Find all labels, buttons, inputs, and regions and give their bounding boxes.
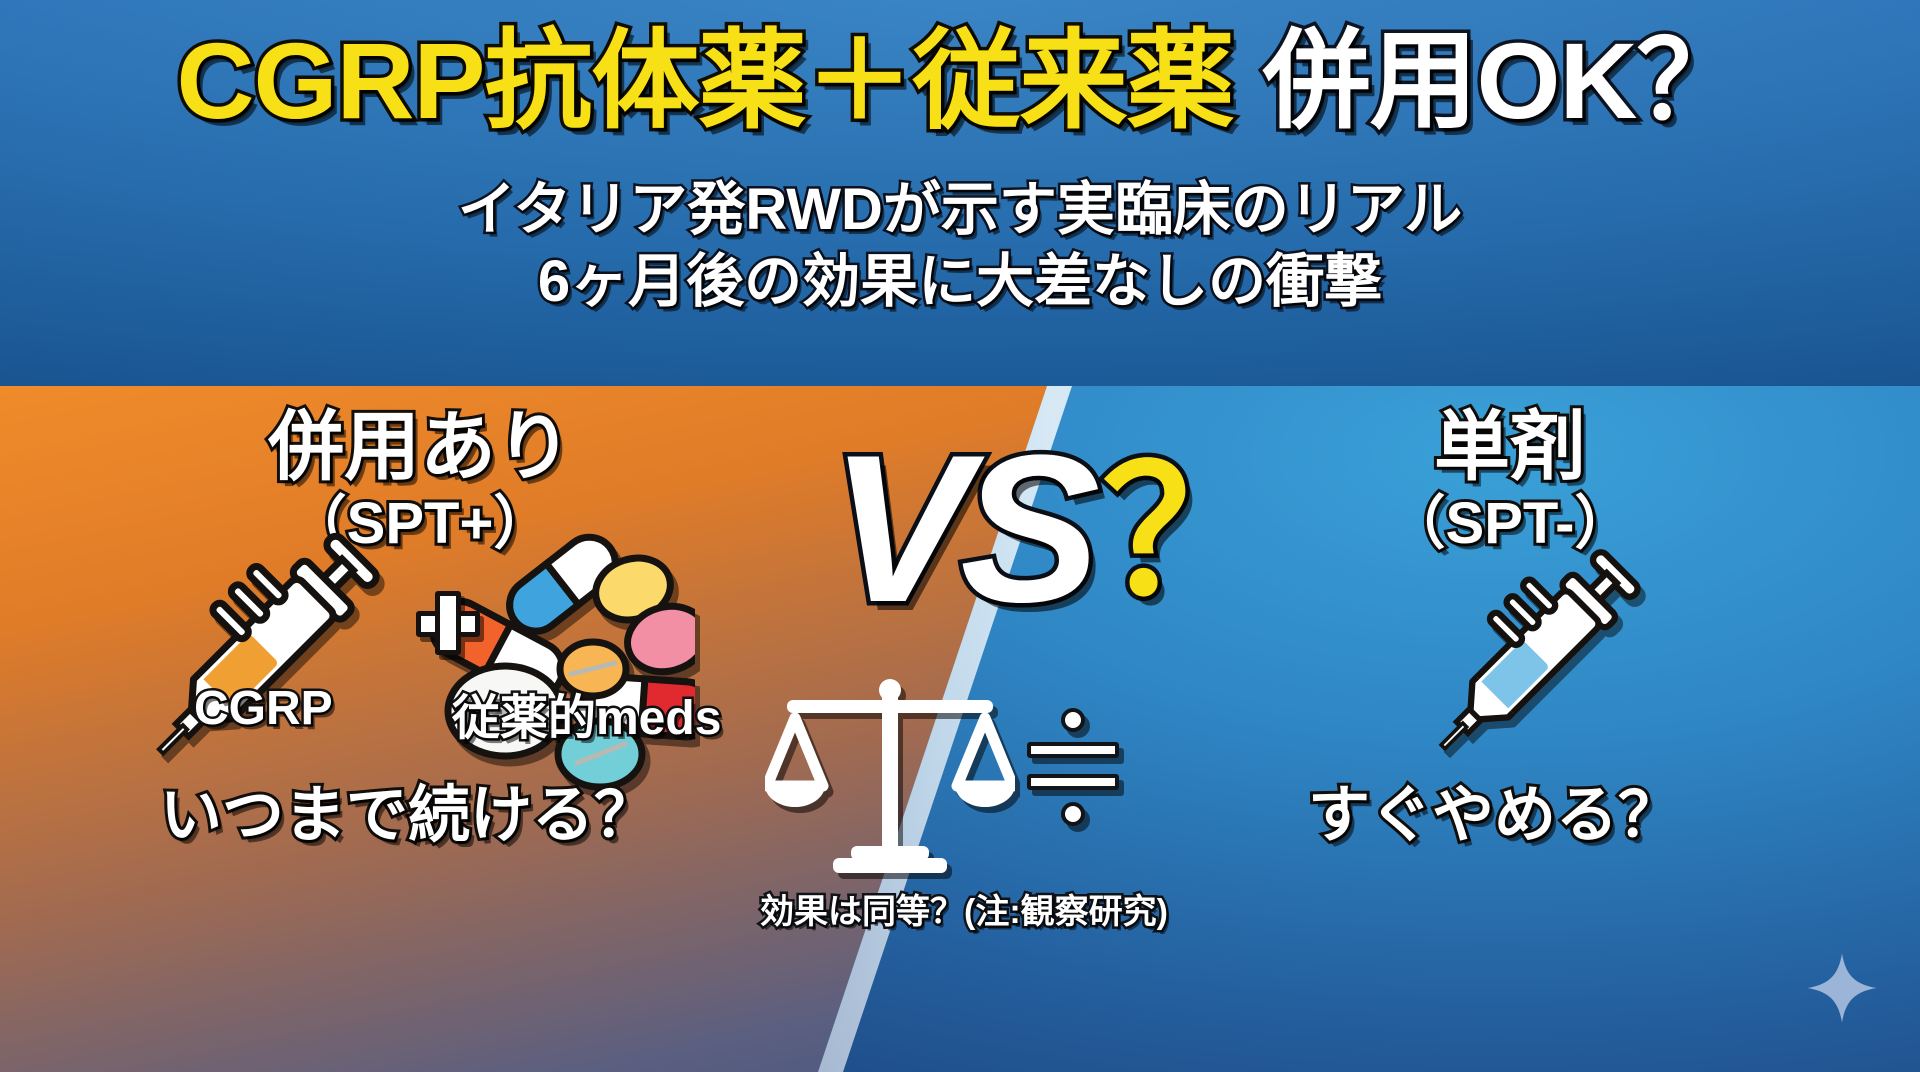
- plus-icon: [416, 591, 480, 655]
- comparison-panels: 併用あり （SPT+）: [0, 386, 1920, 1072]
- page-title-highlight: CGRP抗体薬＋従来薬: [176, 20, 1233, 141]
- infographic-canvas: CGRP抗体薬＋従来薬 併用OK？ イタリア発RWDが示す実臨床のリアル 6ヶ月…: [0, 0, 1920, 1072]
- left-panel-question: いつまで続ける？: [160, 764, 656, 854]
- left-meds-label: 従薬的meds: [452, 678, 721, 748]
- versus-block: VS ？: [830, 424, 1210, 654]
- syringe-blue-icon: [1415, 521, 1650, 791]
- syringe-orange-icon: [130, 506, 390, 796]
- question-mark-label: ？: [1102, 446, 1277, 621]
- header-band: CGRP抗体薬＋従来薬 併用OK？ イタリア発RWDが示す実臨床のリアル 6ヶ月…: [0, 0, 1920, 386]
- left-heading-main: 併用あり: [120, 408, 720, 488]
- right-heading-main: 単剤: [1230, 408, 1790, 488]
- vs-label: VS: [830, 424, 1090, 634]
- right-panel-question: すぐやめる？: [1308, 764, 1680, 854]
- page-title-rest: 併用OK？: [1234, 20, 1744, 141]
- sparkle-icon: [1806, 952, 1878, 1024]
- balance-scales-icon: [765, 678, 1015, 878]
- page-title: CGRP抗体薬＋従来薬 併用OK？: [0, 26, 1920, 136]
- subtitle-line-2: 6ヶ月後の効果に大差なしの衝撃: [0, 234, 1920, 318]
- left-drug-label: CGRP: [194, 681, 333, 736]
- approximately-equal-icon: [1025, 706, 1121, 826]
- center-caption: 効果は同等？(注:観察研究): [760, 884, 1168, 933]
